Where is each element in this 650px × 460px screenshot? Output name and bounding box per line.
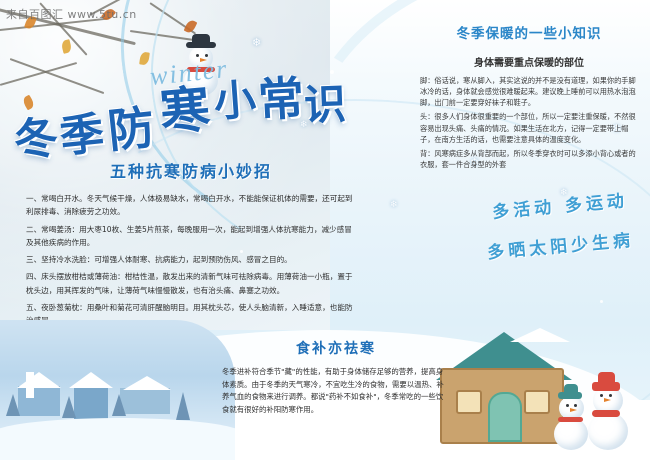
tips-article-body: 一、常喝白开水。冬天气候干燥，人体极易缺水，常喝白开水，不能能保证机体的需要，还…: [26, 192, 356, 328]
title-char-2: 季: [58, 112, 106, 160]
tips-article: 五种抗寒防病小妙招 一、常喝白开水。冬天气候干燥，人体极易缺水，常喝白开水，不能…: [26, 158, 356, 332]
house-door: [488, 392, 522, 442]
right-article: 冬季保暖的一些小知识 身体需要重点保暖的部位 脚：俗话说，寒从脚入，其实这说的并…: [420, 22, 638, 173]
bottom-article-title: 食补亦祛寒: [222, 338, 450, 358]
bottom-article: 食补亦祛寒 冬季进补符合季节"藏"的性能，有助于身体储存足够的营养，提高身体素质…: [222, 338, 450, 419]
snowman-left: [552, 386, 592, 452]
title-char-6: 常: [257, 75, 305, 123]
right-article-title: 冬季保暖的一些小知识: [420, 22, 638, 42]
bottom-article-paragraph: 冬季进补符合季节"藏"的性能，有助于身体储存足够的营养，提高身体素质。由于冬季的…: [222, 366, 450, 416]
poster-canvas: ❄ ❄ ❄ ❄ ❄ ❄ 来自百图汇 www.5tu.cn winter 冬 季 …: [0, 0, 650, 460]
right-article-body: 脚：俗话说，寒从脚入，其实这说的并不是没有道理，如果你的手脚冰冷的话，身体就会感…: [420, 75, 638, 170]
snowman-right: [586, 374, 632, 452]
watermark-text: 来自百图汇 www.5tu.cn: [6, 6, 137, 22]
tips-item: 四、床头摆放柑桔或薄荷油：柑桔性温，散发出来的清新气味可祛除病毒。用薄荷油一小瓶…: [26, 270, 356, 297]
tips-article-title: 五种抗寒防病小妙招: [26, 158, 356, 182]
tips-item: 二、常喝姜汤：用大枣10枚、生姜5片煎茶，每晚服用一次，能起到增强人体抗寒能力，…: [26, 223, 356, 250]
house-window: [456, 390, 482, 414]
right-article-paragraph: 脚：俗话说，寒从脚入，其实这说的并不是没有道理，如果你的手脚冰冷的话，身体就会感…: [420, 75, 638, 108]
title-char-5: 小: [213, 79, 258, 124]
title-char-3: 防: [106, 104, 157, 155]
village-photo: [0, 320, 235, 460]
right-article-paragraph: 背：风寒病症多从背部而起，所以冬季穿衣时可以多添小背心或者的衣服，套一件合身型的…: [420, 148, 638, 170]
title-char-7: 识: [303, 83, 346, 126]
title-char-4: 寒: [158, 84, 212, 138]
bottom-article-body: 冬季进补符合季节"藏"的性能，有助于身体储存足够的营养，提高身体素质。由于冬季的…: [222, 366, 450, 416]
house-window: [524, 390, 550, 414]
title-char-1: 冬: [12, 116, 60, 164]
village-snow-ground: [0, 418, 235, 460]
right-article-subtitle: 身体需要重点保暖的部位: [420, 54, 638, 69]
right-article-paragraph: 头：很多人们身体很重要的一个部位，所以一定要注重保暖，不然很容易出现头痛、头痛的…: [420, 111, 638, 144]
roof-snow: [510, 328, 570, 342]
tips-item: 一、常喝白开水。冬天气候干燥，人体极易缺水，常喝白开水，不能能保证机体的需要，还…: [26, 192, 356, 219]
tips-item: 三、坚持冷水洗脸：可增强人体耐寒、抗病能力，起到预防伤风、感冒之目的。: [26, 253, 356, 266]
